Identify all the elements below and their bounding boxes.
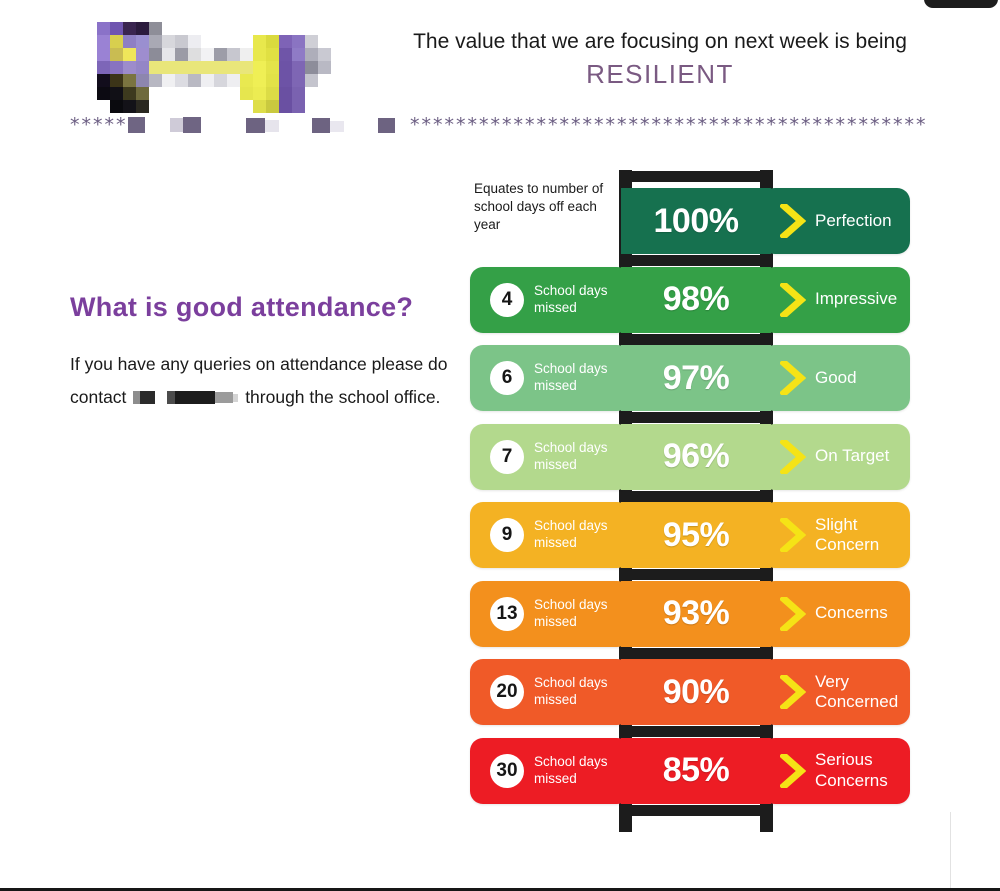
attendance-percent-value: 93%: [663, 594, 730, 633]
days-missed-label: School daysmissed: [534, 283, 608, 317]
star-divider: ***** **********************************…: [70, 116, 930, 140]
attendance-rating-label: Perfection: [815, 211, 892, 231]
ladder-rung: [619, 171, 773, 182]
attendance-ladder-graphic: Equates to number of school days off eac…: [466, 160, 914, 830]
article-body: If you have any queries on attendance pl…: [70, 348, 460, 413]
ladder-rung: [619, 569, 773, 580]
attendance-rating-pill: On Target: [762, 424, 910, 490]
value-of-the-week-header: The value that we are focusing on next w…: [380, 28, 940, 90]
star-divider-redacted-left: *****: [70, 116, 400, 140]
days-missed-pill: 7School daysmissed: [470, 424, 630, 490]
days-missed-count: 30: [490, 754, 524, 788]
attendance-rating-pill: Impressive: [762, 267, 910, 333]
ladder-rung: [619, 255, 773, 266]
ladder-rung: [619, 726, 773, 737]
ladder-row: 13School daysmissed93%Concerns: [466, 581, 914, 647]
days-missed-label: School daysmissed: [534, 361, 608, 395]
ladder-rung: [619, 334, 773, 345]
star-divider-left-text: *****: [70, 114, 128, 136]
attendance-percent-value: 98%: [663, 280, 730, 319]
days-missed-pill: 6School daysmissed: [470, 345, 630, 411]
chevron-right-icon: [780, 283, 806, 317]
attendance-rating-pill: Good: [762, 345, 910, 411]
days-missed-pill: 20School daysmissed: [470, 659, 630, 725]
attendance-percent-step: 93%: [621, 581, 771, 647]
ladder-row: 100%Perfection: [466, 188, 914, 254]
attendance-percent-step: 100%: [621, 188, 771, 254]
attendance-percent-step: 90%: [621, 659, 771, 725]
page-edge-line: [950, 812, 951, 888]
attendance-rating-label: Good: [815, 368, 857, 388]
days-missed-pill: 4School daysmissed: [470, 267, 630, 333]
chevron-right-icon: [780, 675, 806, 709]
attendance-rating-pill: SlightConcern: [762, 502, 910, 568]
article-body-after: through the school office.: [245, 387, 440, 407]
ladder-row: 7School daysmissed96%On Target: [466, 424, 914, 490]
days-missed-label: School daysmissed: [534, 597, 608, 631]
days-missed-count: 7: [490, 440, 524, 474]
value-intro-text: The value that we are focusing on next w…: [380, 28, 940, 55]
ladder-row: 6School daysmissed97%Good: [466, 345, 914, 411]
ladder-row: 30School daysmissed85%SeriousConcerns: [466, 738, 914, 804]
attendance-rating-pill: Perfection: [762, 188, 910, 254]
days-missed-count: 9: [490, 518, 524, 552]
days-missed-label: School daysmissed: [534, 440, 608, 474]
attendance-percent-step: 98%: [621, 267, 771, 333]
ladder-rung: [619, 491, 773, 502]
attendance-rating-label: VeryConcerned: [815, 672, 898, 713]
days-missed-label: School daysmissed: [534, 675, 608, 709]
ladder-row: 20School daysmissed90%VeryConcerned: [466, 659, 914, 725]
days-missed-pill: 30School daysmissed: [470, 738, 630, 804]
days-missed-label: School daysmissed: [534, 518, 608, 552]
attendance-rating-label: Impressive: [815, 289, 897, 309]
article-heading: What is good attendance?: [70, 288, 460, 326]
chevron-right-icon: [780, 518, 806, 552]
days-missed-count: 6: [490, 361, 524, 395]
attendance-rating-label: On Target: [815, 446, 889, 466]
value-name-text: RESILIENT: [380, 59, 940, 90]
redacted-contact-name: [133, 390, 238, 405]
chevron-right-icon: [780, 440, 806, 474]
attendance-rating-label: SlightConcern: [815, 515, 879, 556]
attendance-rating-label: Concerns: [815, 603, 888, 623]
chevron-right-icon: [780, 204, 806, 238]
attendance-percent-value: 85%: [663, 751, 730, 790]
star-divider-right-text: ****************************************…: [410, 114, 928, 136]
days-missed-pill: 9School daysmissed: [470, 502, 630, 568]
attendance-percent-value: 90%: [663, 673, 730, 712]
attendance-percent-step: 85%: [621, 738, 771, 804]
attendance-rating-pill: Concerns: [762, 581, 910, 647]
ladder-rung: [619, 412, 773, 423]
attendance-article: What is good attendance? If you have any…: [70, 288, 460, 413]
attendance-percent-step: 96%: [621, 424, 771, 490]
attendance-percent-step: 97%: [621, 345, 771, 411]
newsletter-page: The value that we are focusing on next w…: [0, 0, 1000, 891]
chevron-right-icon: [780, 361, 806, 395]
attendance-percent-value: 97%: [663, 359, 730, 398]
ladder-row: 4School daysmissed98%Impressive: [466, 267, 914, 333]
attendance-percent-value: 96%: [663, 437, 730, 476]
ladder-rung: [619, 648, 773, 659]
chevron-right-icon: [780, 597, 806, 631]
attendance-percent-step: 95%: [621, 502, 771, 568]
cropped-top-right-tab: [924, 0, 998, 8]
attendance-percent-value: 100%: [654, 202, 739, 241]
days-missed-count: 13: [490, 597, 524, 631]
attendance-rating-pill: VeryConcerned: [762, 659, 910, 725]
attendance-rating-pill: SeriousConcerns: [762, 738, 910, 804]
chevron-right-icon: [780, 754, 806, 788]
days-missed-count: 20: [490, 675, 524, 709]
days-missed-label: School daysmissed: [534, 754, 608, 788]
ladder-row: 9School daysmissed95%SlightConcern: [466, 502, 914, 568]
days-missed-pill: 13School daysmissed: [470, 581, 630, 647]
ladder-rung: [619, 805, 773, 816]
attendance-percent-value: 95%: [663, 516, 730, 555]
days-missed-count: 4: [490, 283, 524, 317]
attendance-rating-label: SeriousConcerns: [815, 750, 888, 791]
school-logo-redacted-image: [97, 22, 347, 102]
